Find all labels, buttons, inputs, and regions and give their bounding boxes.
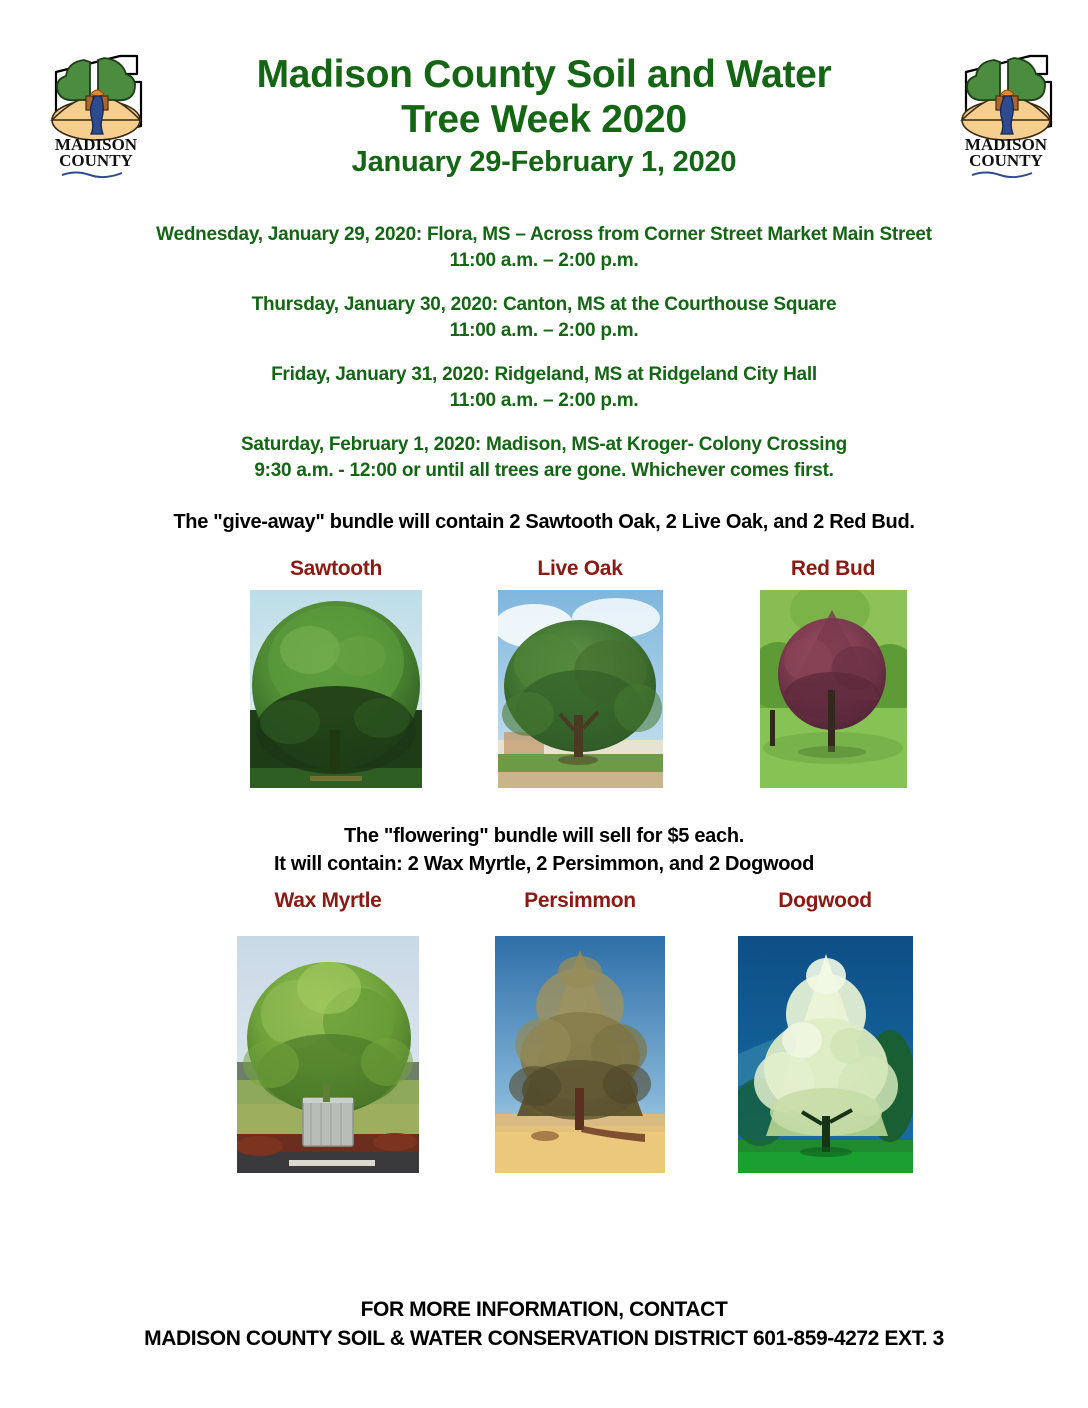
title-line-1: Madison County Soil and Water: [180, 52, 908, 97]
tree-label-persimmon: Persimmon: [480, 888, 680, 914]
tree-label-sawtooth: Sawtooth: [236, 556, 436, 582]
tree-card-dogwood: Dogwood: [725, 888, 925, 1173]
footer-line-1: FOR MORE INFORMATION, CONTACT: [0, 1295, 1088, 1324]
madison-county-logo-right: MADISON COUNTY: [948, 38, 1066, 178]
flowering-bundle-description: The "flowering" bundle will sell for $5 …: [0, 822, 1088, 878]
title-date-range: January 29-February 1, 2020: [180, 144, 908, 180]
event-time: 11:00 a.m. – 2:00 p.m.: [0, 248, 1088, 274]
page-title: Madison County Soil and Water Tree Week …: [180, 52, 908, 180]
event-item: Wednesday, January 29, 2020: Flora, MS –…: [0, 222, 1088, 274]
logo-text-county: COUNTY: [969, 151, 1043, 170]
flowering-bundle-line-1: The "flowering" bundle will sell for $5 …: [0, 822, 1088, 850]
event-schedule-list: Wednesday, January 29, 2020: Flora, MS –…: [0, 222, 1088, 502]
tree-card-sawtooth: Sawtooth: [236, 556, 436, 788]
title-line-2: Tree Week 2020: [180, 97, 908, 142]
tree-label-wax-myrtle: Wax Myrtle: [228, 888, 428, 914]
live-oak-photo: [498, 590, 663, 788]
event-time: 9:30 a.m. - 12:00 or until all trees are…: [0, 458, 1088, 484]
flowering-tree-gallery: Wax Myrtle: [0, 888, 1088, 889]
red-bud-photo: [760, 590, 907, 788]
flowering-bundle-line-2: It will contain: 2 Wax Myrtle, 2 Persimm…: [0, 850, 1088, 878]
giveaway-tree-gallery: Sawtooth: [0, 556, 1088, 557]
event-item: Saturday, February 1, 2020: Madison, MS-…: [0, 432, 1088, 484]
tree-card-persimmon: Persimmon: [480, 888, 680, 1173]
footer-line-2: MADISON COUNTY SOIL & WATER CONSERVATION…: [0, 1324, 1088, 1353]
sawtooth-oak-photo: [250, 590, 422, 788]
tree-label-dogwood: Dogwood: [725, 888, 925, 914]
event-time: 11:00 a.m. – 2:00 p.m.: [0, 318, 1088, 344]
dogwood-photo: [738, 936, 913, 1173]
tree-label-live-oak: Live Oak: [480, 556, 680, 582]
giveaway-bundle-line-1: The "give-away" bundle will contain 2 Sa…: [0, 508, 1088, 536]
event-time: 11:00 a.m. – 2:00 p.m.: [0, 388, 1088, 414]
wax-myrtle-photo: [237, 936, 419, 1173]
tree-card-live-oak: Live Oak: [480, 556, 680, 788]
logo-text-county: COUNTY: [59, 151, 133, 170]
flyer-header: MADISON COUNTY Madison County Soil and W…: [0, 0, 1088, 205]
tree-label-red-bud: Red Bud: [733, 556, 933, 582]
persimmon-photo: [495, 936, 665, 1173]
event-location: Saturday, February 1, 2020: Madison, MS-…: [0, 432, 1088, 458]
event-item: Thursday, January 30, 2020: Canton, MS a…: [0, 292, 1088, 344]
tree-card-red-bud: Red Bud: [733, 556, 933, 788]
giveaway-bundle-description: The "give-away" bundle will contain 2 Sa…: [0, 508, 1088, 536]
event-location: Thursday, January 30, 2020: Canton, MS a…: [0, 292, 1088, 318]
contact-footer: FOR MORE INFORMATION, CONTACT MADISON CO…: [0, 1295, 1088, 1353]
madison-county-logo-left: MADISON COUNTY: [38, 38, 156, 178]
event-item: Friday, January 31, 2020: Ridgeland, MS …: [0, 362, 1088, 414]
event-location: Friday, January 31, 2020: Ridgeland, MS …: [0, 362, 1088, 388]
event-location: Wednesday, January 29, 2020: Flora, MS –…: [0, 222, 1088, 248]
tree-card-wax-myrtle: Wax Myrtle: [228, 888, 428, 1173]
